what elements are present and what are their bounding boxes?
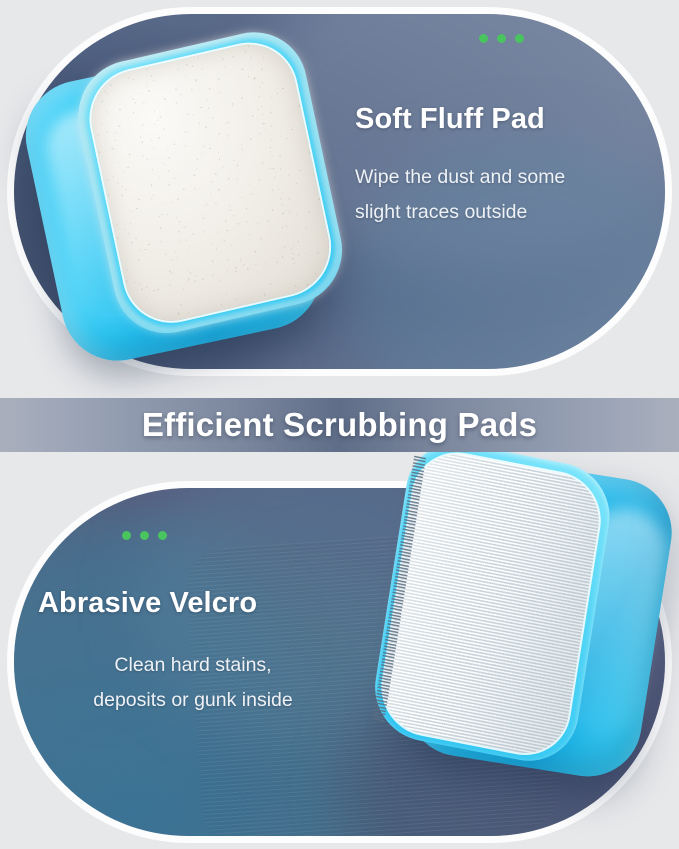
green-dot-icon xyxy=(479,34,488,43)
feature-text-soft-fluff-pad: Soft Fluff Pad Wipe the dust and some sl… xyxy=(355,104,645,229)
feature-description: Wipe the dust and some slight traces out… xyxy=(355,160,645,229)
product-image-soft-fluff-sponge xyxy=(3,19,371,387)
green-dot-icon xyxy=(515,34,524,43)
feature-text-abrasive-velcro: Abrasive Velcro Clean hard stains, depos… xyxy=(38,588,348,717)
feature-description: Clean hard stains, deposits or gunk insi… xyxy=(38,648,348,717)
feature-description-line: slight traces outside xyxy=(355,195,645,230)
feature-heading: Abrasive Velcro xyxy=(38,588,348,620)
feature-description-line: Clean hard stains, xyxy=(38,648,348,683)
product-infographic: Soft Fluff Pad Wipe the dust and some sl… xyxy=(0,0,679,849)
feature-description-line: Wipe the dust and some xyxy=(355,160,645,195)
green-dot-icon xyxy=(158,531,167,540)
feature-heading: Soft Fluff Pad xyxy=(355,104,645,136)
decorative-dots-bottom xyxy=(122,531,167,540)
green-dot-icon xyxy=(140,531,149,540)
feature-description-line: deposits or gunk inside xyxy=(38,683,348,718)
product-image-abrasive-velcro-sponge xyxy=(368,441,679,814)
green-dot-icon xyxy=(122,531,131,540)
decorative-dots-top xyxy=(479,34,524,43)
section-banner: Efficient Scrubbing Pads xyxy=(0,398,679,452)
green-dot-icon xyxy=(497,34,506,43)
banner-title: Efficient Scrubbing Pads xyxy=(142,406,537,444)
